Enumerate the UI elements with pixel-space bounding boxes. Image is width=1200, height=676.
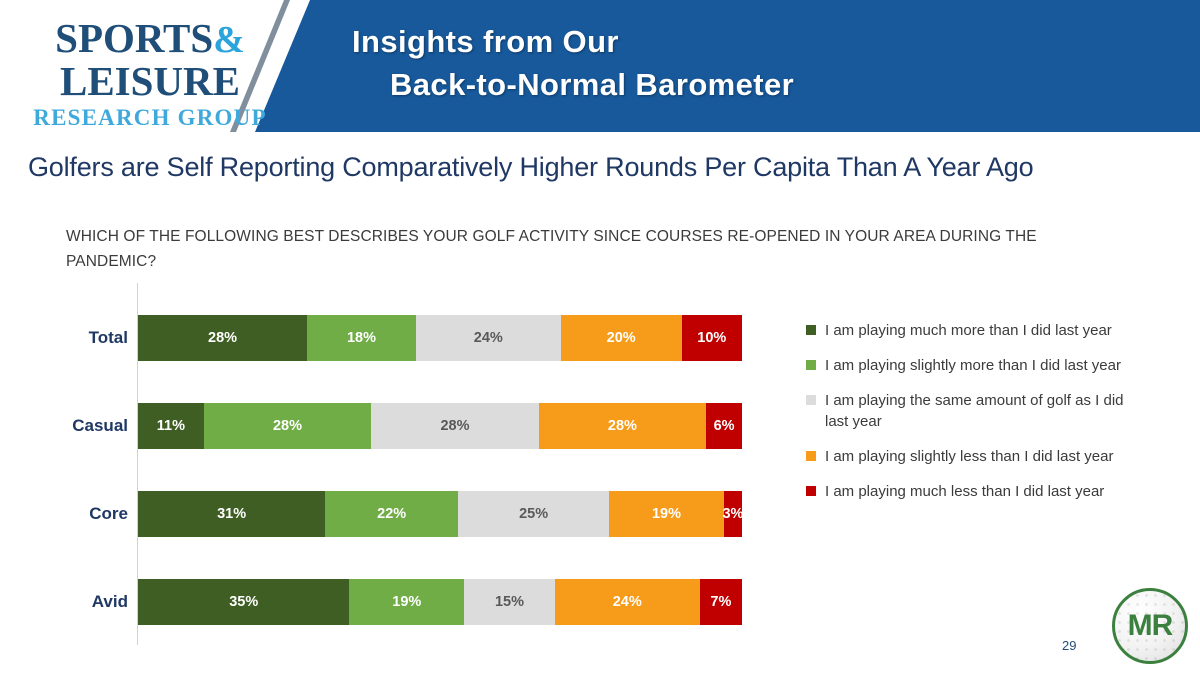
- logo-line-research-group: RESEARCH GROUP: [32, 106, 268, 129]
- bar-segment: 20%: [561, 315, 682, 361]
- legend-swatch-icon: [806, 451, 816, 461]
- legend-swatch-icon: [806, 325, 816, 335]
- bar-segment-value: 28%: [273, 418, 302, 434]
- legend-item-label: I am playing the same amount of golf as …: [825, 392, 1124, 430]
- bar-segment: 28%: [539, 403, 706, 449]
- legend-item: I am playing the same amount of golf as …: [806, 390, 1136, 432]
- stacked-bar: 28%18%24%20%10%: [138, 315, 742, 361]
- stacked-bar: 35%19%15%24%7%: [138, 579, 742, 625]
- chart-row-label: Avid: [60, 579, 128, 625]
- header-title-line1: Insights from Our: [352, 24, 619, 59]
- mr-golf-ball-logo: MR: [1112, 588, 1188, 664]
- company-logo: SPORTS& LEISURE RESEARCH GROUP: [32, 18, 268, 129]
- header-title-line2: Back-to-Normal Barometer: [352, 63, 1132, 106]
- bar-segment: 31%: [138, 491, 325, 537]
- bar-segment-value: 3%: [722, 506, 743, 522]
- bar-segment: 15%: [464, 579, 555, 625]
- bar-segment-value: 24%: [613, 594, 642, 610]
- bar-segment-value: 28%: [440, 418, 469, 434]
- bar-segment-value: 19%: [652, 506, 681, 522]
- bar-segment: 10%: [682, 315, 742, 361]
- bar-segment-value: 7%: [710, 594, 731, 610]
- bar-segment: 18%: [307, 315, 416, 361]
- bar-segment: 22%: [325, 491, 458, 537]
- page-title: Golfers are Self Reporting Comparatively…: [28, 152, 1168, 183]
- bar-segment-value: 24%: [474, 330, 503, 346]
- chart-legend: I am playing much more than I did last y…: [806, 320, 1136, 516]
- legend-item: I am playing much less than I did last y…: [806, 481, 1136, 502]
- stacked-bar: 31%22%25%19%3%: [138, 491, 742, 537]
- bar-segment-value: 6%: [714, 418, 735, 434]
- stacked-bar-chart: Total28%18%24%20%10%Casual11%28%28%28%6%…: [60, 283, 760, 645]
- bar-segment-value: 18%: [347, 330, 376, 346]
- bar-segment-value: 25%: [519, 506, 548, 522]
- bar-segment-value: 22%: [377, 506, 406, 522]
- bar-segment: 28%: [138, 315, 307, 361]
- slide-header: SPORTS& LEISURE RESEARCH GROUP Insights …: [0, 0, 1200, 132]
- chart-row-label: Total: [60, 315, 128, 361]
- bar-segment-value: 15%: [495, 594, 524, 610]
- bar-segment: 25%: [458, 491, 609, 537]
- bar-segment-value: 19%: [392, 594, 421, 610]
- bar-segment-value: 31%: [217, 506, 246, 522]
- bar-segment-value: 10%: [697, 330, 726, 346]
- bar-segment: 3%: [724, 491, 742, 537]
- mr-logo-text: MR: [1112, 588, 1188, 664]
- bar-segment: 19%: [609, 491, 724, 537]
- bar-segment: 24%: [555, 579, 700, 625]
- bar-segment: 11%: [138, 403, 204, 449]
- logo-ampersand: &: [213, 19, 245, 61]
- logo-line-leisure: LEISURE: [32, 61, 268, 102]
- legend-item: I am playing slightly more than I did la…: [806, 355, 1136, 376]
- bar-segment-value: 20%: [607, 330, 636, 346]
- bar-segment: 24%: [416, 315, 561, 361]
- stacked-bar: 11%28%28%28%6%: [138, 403, 742, 449]
- legend-item-label: I am playing much more than I did last y…: [825, 322, 1112, 339]
- legend-item-label: I am playing much less than I did last y…: [825, 483, 1104, 500]
- bar-segment: 28%: [204, 403, 371, 449]
- bar-segment: 6%: [706, 403, 742, 449]
- chart-row: Avid35%19%15%24%7%: [60, 579, 760, 625]
- bar-segment: 19%: [349, 579, 464, 625]
- bar-segment-value: 11%: [157, 418, 185, 434]
- legend-swatch-icon: [806, 395, 816, 405]
- page-number: 29: [1062, 638, 1076, 653]
- logo-text-sports: SPORTS: [55, 15, 213, 61]
- chart-row-label: Core: [60, 491, 128, 537]
- legend-swatch-icon: [806, 360, 816, 370]
- header-title: Insights from Our Back-to-Normal Baromet…: [352, 20, 1132, 106]
- chart-row-label: Casual: [60, 403, 128, 449]
- legend-item: I am playing slightly less than I did la…: [806, 446, 1136, 467]
- survey-question-text: WHICH OF THE FOLLOWING BEST DESCRIBES YO…: [66, 224, 1046, 274]
- bar-segment: 7%: [700, 579, 742, 625]
- logo-line-sports: SPORTS&: [32, 18, 268, 59]
- chart-row: Core31%22%25%19%3%: [60, 491, 760, 537]
- chart-row: Casual11%28%28%28%6%: [60, 403, 760, 449]
- legend-item-label: I am playing slightly less than I did la…: [825, 448, 1113, 465]
- bar-segment: 28%: [371, 403, 538, 449]
- bar-segment-value: 28%: [208, 330, 237, 346]
- chart-row: Total28%18%24%20%10%: [60, 315, 760, 361]
- bar-segment-value: 35%: [229, 594, 258, 610]
- legend-item-label: I am playing slightly more than I did la…: [825, 357, 1121, 374]
- bar-segment: 35%: [138, 579, 349, 625]
- legend-item: I am playing much more than I did last y…: [806, 320, 1136, 341]
- legend-swatch-icon: [806, 486, 816, 496]
- bar-segment-value: 28%: [608, 418, 637, 434]
